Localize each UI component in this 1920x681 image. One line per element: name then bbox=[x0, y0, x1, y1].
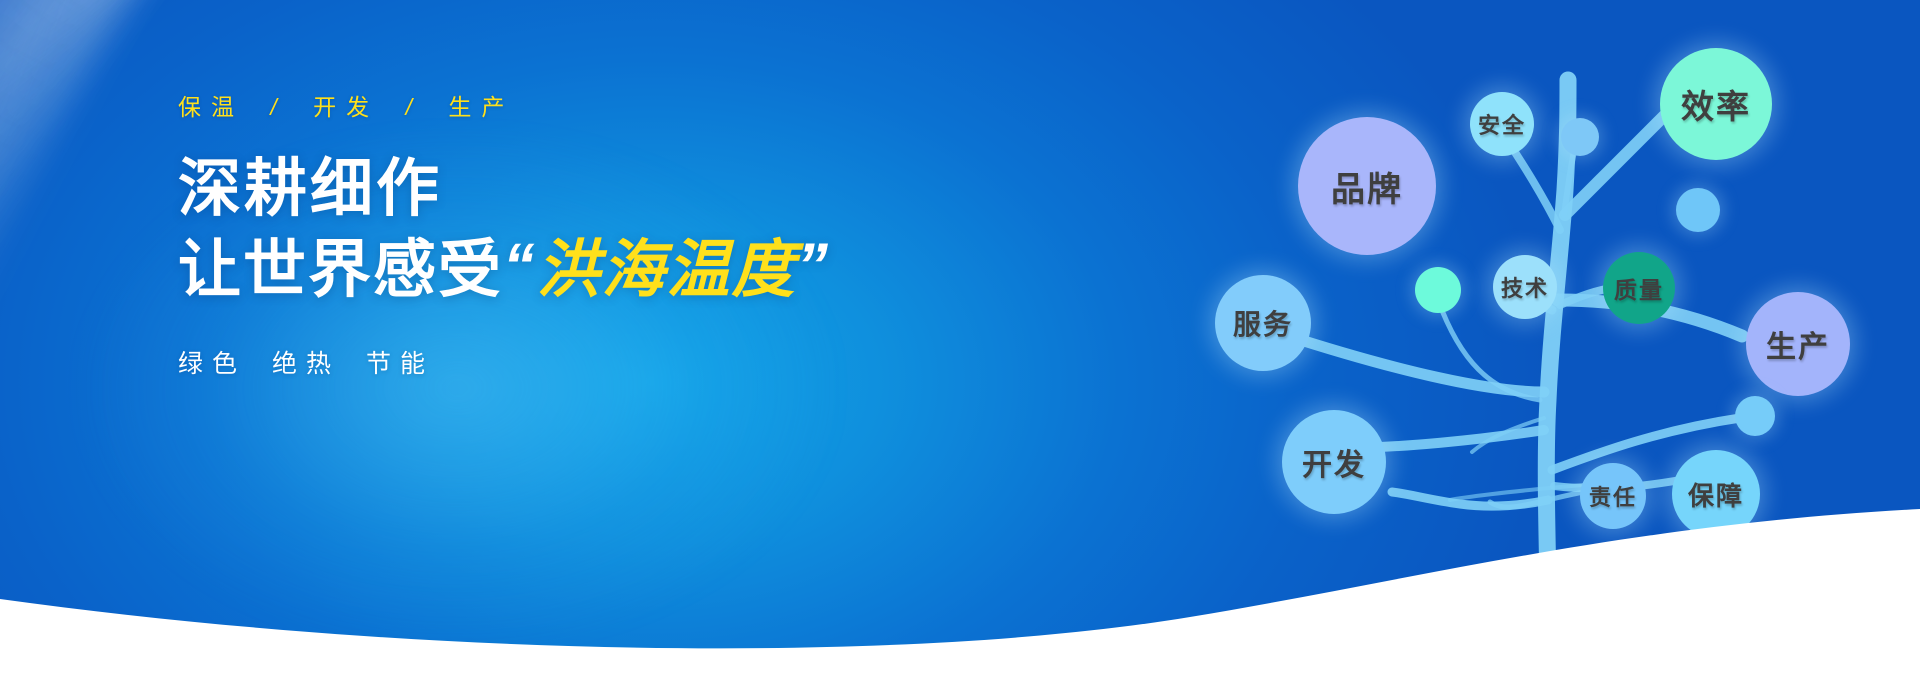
tree-bubble-生产[interactable]: 生产 bbox=[1746, 292, 1850, 396]
tree-bubble-label: 保障 bbox=[1688, 476, 1744, 513]
eyebrow-item-2: 开发 bbox=[313, 94, 379, 120]
tree-bubble-技术[interactable]: 技术 bbox=[1493, 255, 1557, 319]
eyebrow-separator-1: / bbox=[260, 94, 296, 120]
tree-bubble-decorative bbox=[1415, 267, 1461, 313]
tree-bubble-label: 质量 bbox=[1614, 271, 1664, 305]
tree-bubble-label: 生产 bbox=[1766, 322, 1830, 366]
tree-bubble-decorative bbox=[1561, 118, 1599, 156]
headline-secondary-prefix: 让世界感受 bbox=[178, 235, 503, 305]
sub-tagline-item-3: 节能 bbox=[366, 350, 434, 378]
tree-bubble-安全[interactable]: 安全 bbox=[1470, 92, 1534, 156]
headline-accent-text: 洪海温度 bbox=[537, 235, 797, 305]
tree-bubble-label: 品牌 bbox=[1331, 162, 1403, 211]
tree-bubble-保障[interactable]: 保障 bbox=[1672, 450, 1760, 538]
tree-bubble-label: 责任 bbox=[1589, 480, 1637, 512]
eyebrow-item-3: 生产 bbox=[448, 94, 514, 120]
hero-text-block: 保温 / 开发 / 生产 深耕细作 让世界感受“洪海温度” 绿色绝热节能 bbox=[178, 96, 938, 380]
tree-bubble-服务[interactable]: 服务 bbox=[1215, 275, 1311, 371]
tree-bubble-decorative bbox=[1735, 396, 1775, 436]
tree-bubble-label: 安全 bbox=[1478, 108, 1526, 140]
quote-open-mark: “ bbox=[503, 231, 537, 302]
tree-bubble-品牌[interactable]: 品牌 bbox=[1298, 117, 1436, 255]
tree-bubble-label: 开发 bbox=[1302, 440, 1366, 484]
sub-tagline-item-1: 绿色 bbox=[178, 350, 246, 378]
eyebrow-separator-2: / bbox=[396, 94, 432, 120]
sub-tagline: 绿色绝热节能 bbox=[178, 344, 938, 380]
tree-bubble-label: 技术 bbox=[1501, 271, 1549, 303]
quote-close-mark: ” bbox=[797, 231, 831, 302]
tree-bubble-责任[interactable]: 责任 bbox=[1580, 463, 1646, 529]
eyebrow-item-1: 保温 bbox=[178, 94, 244, 120]
hero-banner: 保温 / 开发 / 生产 深耕细作 让世界感受“洪海温度” 绿色绝热节能 bbox=[0, 0, 1920, 681]
headline-primary: 深耕细作 bbox=[178, 155, 938, 223]
tree-bubble-label: 服务 bbox=[1233, 303, 1293, 343]
headline-secondary: 让世界感受“洪海温度” bbox=[178, 235, 938, 306]
knowledge-tree-graphic: 效率安全品牌技术质量服务生产开发责任保障 bbox=[1020, 0, 1920, 681]
sub-tagline-item-2: 绝热 bbox=[272, 350, 340, 378]
tree-bubble-decorative bbox=[1676, 188, 1720, 232]
tree-bubble-label: 效率 bbox=[1681, 80, 1751, 128]
eyebrow-tagline: 保温 / 开发 / 生产 bbox=[178, 96, 938, 119]
tree-bubble-开发[interactable]: 开发 bbox=[1282, 410, 1386, 514]
tree-bubble-质量[interactable]: 质量 bbox=[1603, 252, 1675, 324]
tree-bubble-效率[interactable]: 效率 bbox=[1660, 48, 1772, 160]
